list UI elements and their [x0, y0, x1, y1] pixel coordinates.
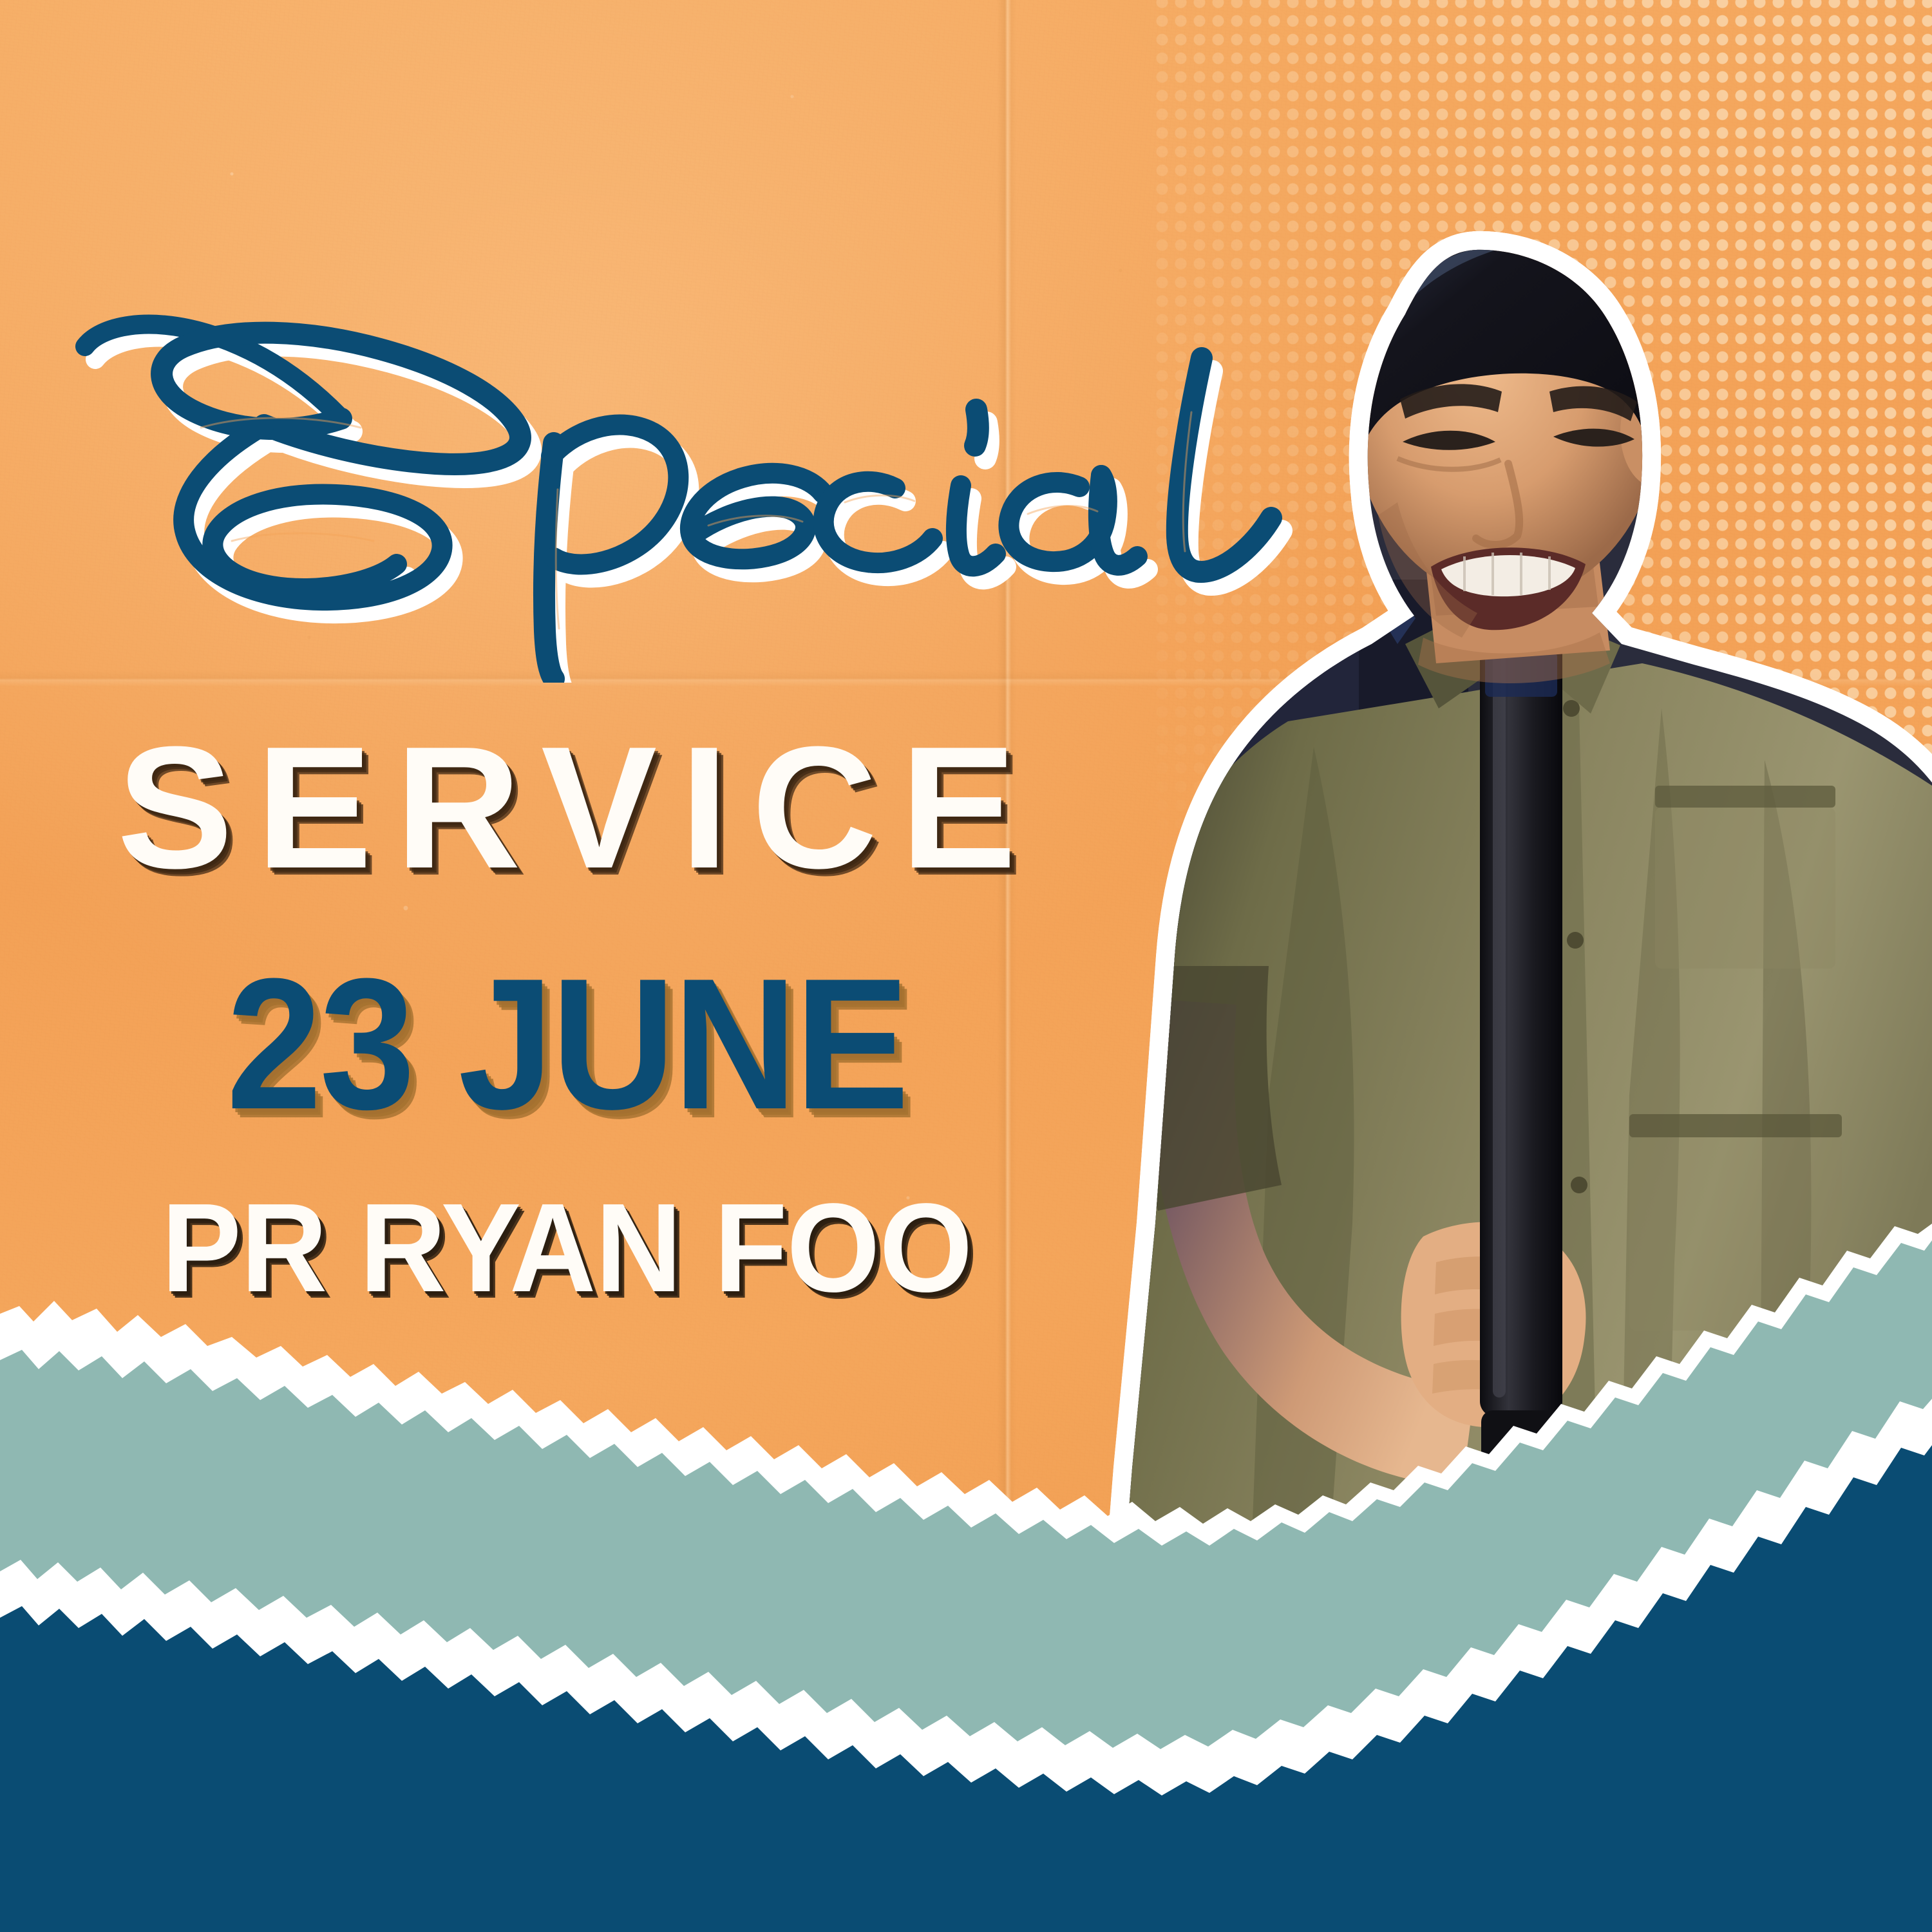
headline-service: SERVICE — [0, 721, 1133, 895]
poster-canvas: SERVICE 23 JUNE PR RYAN FOO — [0, 0, 1932, 1932]
event-date: 23 JUNE — [45, 951, 1088, 1137]
speaker-name: PR RYAN FOO — [28, 1185, 1105, 1311]
headline-block: SERVICE 23 JUNE PR RYAN FOO — [0, 721, 1133, 1311]
special-navy-strokes — [85, 325, 1271, 679]
script-title-special — [39, 270, 1294, 683]
